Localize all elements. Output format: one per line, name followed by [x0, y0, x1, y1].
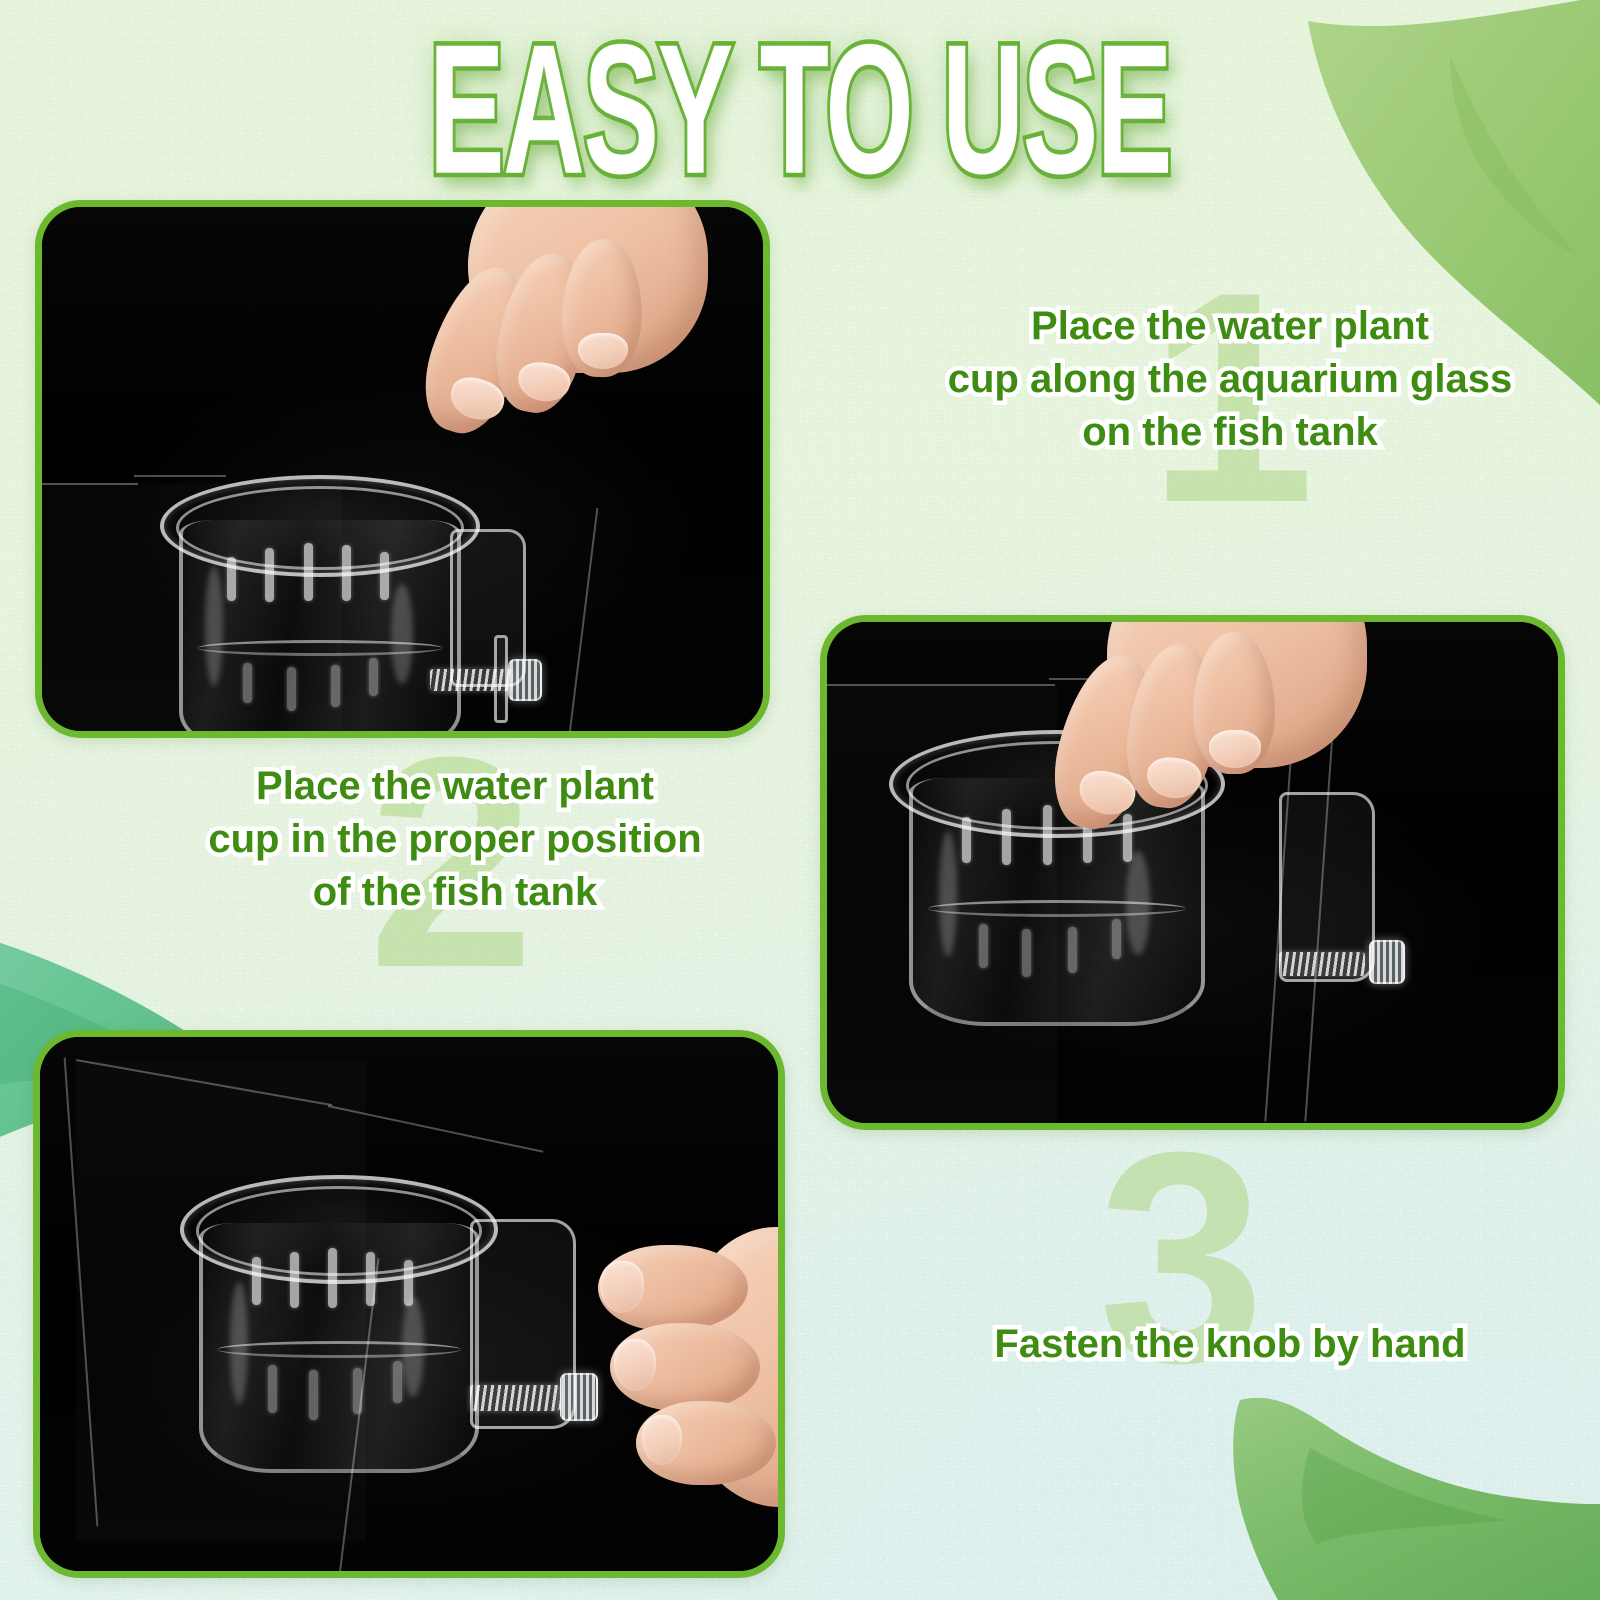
cup-drain-slot — [265, 548, 274, 602]
step-3-description: Fasten the knob by hand — [880, 1318, 1580, 1371]
step-1-photo-panel — [35, 200, 770, 738]
step-1-description: Place the water plant cup along the aqua… — [880, 300, 1580, 460]
cup-drain-slot — [331, 665, 340, 707]
cup-drain-slot — [243, 663, 252, 703]
cup-highlight — [230, 1282, 248, 1404]
threaded-screw — [1279, 952, 1365, 976]
cup-drain-slot — [353, 1368, 362, 1414]
cup-drain-slot — [979, 924, 988, 968]
cup-drain-slot — [268, 1365, 277, 1413]
cup-drain-slot — [309, 1370, 318, 1420]
step-1-text-block: 1 Place the water plant cup along the aq… — [880, 300, 1580, 460]
step-1-line-3: on the fish tank — [880, 406, 1580, 459]
step-2-line-2: cup in the proper position — [110, 813, 800, 866]
cup-drain-slot — [962, 817, 971, 863]
cup-mid-band — [217, 1341, 462, 1358]
step-3-photo-panel — [33, 1030, 785, 1578]
cup-drain-slot — [369, 658, 378, 696]
cup-highlight — [402, 1297, 424, 1397]
cup-drain-slot — [304, 543, 313, 601]
cup-drain-slot — [1022, 929, 1031, 977]
cup-drain-slot — [366, 1252, 375, 1306]
cup-highlight — [205, 566, 223, 686]
cup-highlight — [1126, 851, 1150, 955]
step-2-text-block: 2 Place the water plant cup in the prope… — [110, 760, 800, 920]
cup-highlight — [939, 831, 957, 957]
plant-cup — [180, 1175, 498, 1495]
step-2-line-3: of the fish tank — [110, 866, 800, 919]
step-1-line-2: cup along the aquarium glass — [880, 353, 1580, 406]
cup-drain-slot — [380, 552, 389, 600]
step-3-line-1: Fasten the knob by hand — [880, 1318, 1580, 1371]
step-2-photo-panel — [820, 615, 1565, 1130]
cup-body — [199, 1223, 479, 1473]
hand — [574, 1187, 785, 1547]
cup-drain-slot — [1068, 927, 1077, 973]
cup-drain-slot — [328, 1248, 337, 1308]
step-3-photo — [40, 1037, 778, 1571]
hand — [372, 207, 712, 507]
cup-drain-slot — [252, 1257, 261, 1305]
step-3-text-block: 3 Fasten the knob by hand — [880, 1190, 1580, 1371]
page-title-container: EASY TO USE — [0, 18, 1600, 160]
step-2-photo — [827, 622, 1558, 1123]
step-2-line-1: Place the water plant — [110, 760, 800, 813]
cup-drain-slot — [227, 557, 236, 601]
cup-drain-slot — [290, 1252, 299, 1308]
cup-drain-slot — [393, 1361, 402, 1403]
page-title: EASY TO USE — [429, 18, 1171, 203]
threaded-screw — [470, 1385, 560, 1411]
cup-highlight — [391, 584, 413, 684]
step-2-description: Place the water plant cup in the proper … — [110, 760, 800, 920]
hand — [987, 615, 1367, 852]
cup-drain-slot — [1112, 919, 1121, 959]
cup-drain-slot — [342, 545, 351, 601]
cup-drain-slot — [287, 667, 296, 711]
thumb-knob — [1369, 940, 1405, 984]
step-1-photo — [42, 207, 763, 731]
step-1-line-1: Place the water plant — [880, 300, 1580, 353]
